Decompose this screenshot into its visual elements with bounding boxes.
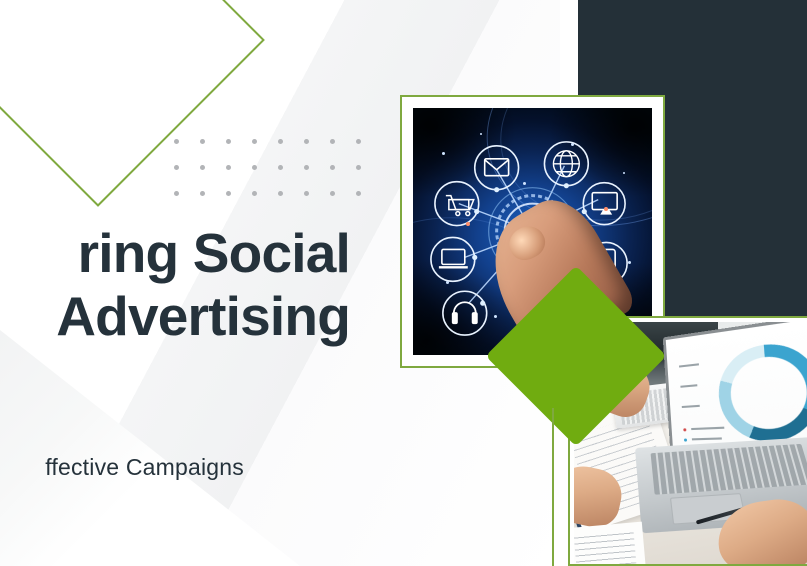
grid-dot: [226, 165, 231, 170]
grid-dot: [304, 191, 309, 196]
grid-dot: [226, 139, 231, 144]
legend-label: [692, 426, 725, 429]
grid-dot: [330, 191, 335, 196]
grid-dot: [200, 139, 205, 144]
grid-dot: [304, 165, 309, 170]
legend-dot: [684, 438, 687, 441]
title-line-2: Advertising: [0, 285, 350, 348]
grid-dot: [278, 139, 283, 144]
grid-dot: [356, 139, 361, 144]
spark-dot: [571, 143, 574, 146]
spark-dot: [480, 133, 482, 135]
grid-dot: [226, 191, 231, 196]
laptop-keyboard: [650, 444, 807, 494]
grid-dot: [252, 191, 257, 196]
chart-axis-label: [680, 384, 697, 388]
grid-dot: [252, 139, 257, 144]
grid-dot: [200, 165, 205, 170]
chart-axis-label: [681, 404, 700, 407]
background-corner-band: [0, 330, 300, 566]
legend-label: [692, 437, 722, 440]
grid-dot: [330, 165, 335, 170]
slide-title: ring Social Advertising: [0, 222, 350, 348]
spark-dot: [466, 222, 470, 226]
paper-document: [574, 522, 646, 564]
grid-dot: [174, 165, 179, 170]
grid-dot: [278, 165, 283, 170]
grid-dot: [174, 139, 179, 144]
grid-dot: [200, 191, 205, 196]
spark-dot: [604, 207, 608, 211]
chart-axis-label: [679, 363, 699, 367]
grid-dot: [252, 165, 257, 170]
dot-grid-decoration: [174, 139, 364, 199]
donut-chart: [716, 338, 807, 442]
grid-dot: [330, 139, 335, 144]
legend-dot: [683, 428, 686, 431]
title-line-1: ring Social: [0, 222, 350, 285]
grid-dot: [174, 191, 179, 196]
grid-dot: [278, 191, 283, 196]
grid-dot: [356, 191, 361, 196]
grid-dot: [356, 165, 361, 170]
grid-dot: [304, 139, 309, 144]
slide-subtitle: ffective Campaigns: [0, 452, 244, 482]
presentation-slide: ring Social Advertising ffective Campaig…: [0, 0, 807, 566]
green-vertical-rule: [552, 408, 554, 566]
paper-lines: [574, 530, 636, 564]
